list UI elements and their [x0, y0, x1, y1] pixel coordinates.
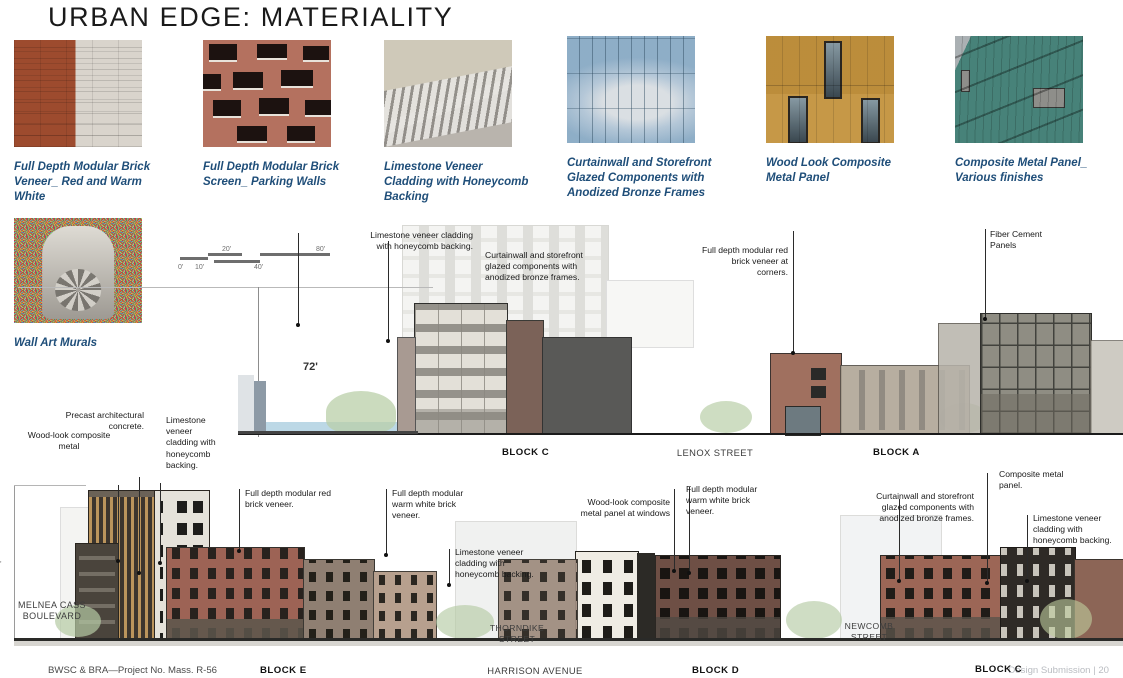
annotation-red-brick-corners: Full depth modular red brick veneer at c… — [700, 245, 788, 279]
leader-line — [139, 477, 140, 573]
dimension-label-72: 72' — [303, 361, 318, 373]
lower-elevation-drawing: ' — [0, 455, 1123, 678]
building-block-c — [414, 303, 508, 435]
dimension-label-cut: ' — [0, 560, 2, 569]
building-edge — [1090, 340, 1123, 435]
building-parking-podium — [542, 337, 632, 435]
tree — [1040, 599, 1092, 639]
block-label-d: BLOCK D — [692, 665, 739, 676]
street-label-thorndike: THORNDIKE STREET — [480, 623, 554, 644]
leader-line — [298, 233, 299, 325]
material-caption: Wood Look Composite Metal Panel — [766, 156, 916, 186]
annotation-limestone-veneer-3: Limestone veneer cladding with honeycomb… — [1033, 513, 1117, 547]
tree — [700, 401, 752, 433]
leader-line — [985, 229, 986, 319]
leader-line — [449, 549, 450, 585]
street-label-melnea-cass: MELNEA CASS BOULEVARD — [4, 600, 100, 623]
material-card-composite-metal-panel-various: Composite Metal Panel_ Various finishes — [955, 36, 1123, 186]
material-card-limestone-veneer-honeycomb: Limestone Veneer Cladding with Honeycomb… — [384, 40, 534, 206]
building-block-e-mid — [303, 559, 375, 640]
leader-line — [793, 231, 794, 353]
leader-line — [987, 473, 988, 583]
building-block-a-brick — [770, 353, 842, 435]
annotation-curtainwall: Curtainwall and storefront glazed compon… — [485, 250, 595, 284]
street-label-newcomb: NEWCOMB STREET — [833, 621, 905, 642]
annotation-wood-look-metal: Wood-look composite metal — [22, 430, 116, 452]
material-caption: Composite Metal Panel_ Various finishes — [955, 156, 1123, 186]
brick-screen-parking-walls-image — [203, 40, 331, 147]
limestone-veneer-honeycomb-image — [384, 40, 512, 147]
footer-submission-label: Design Submission | 20 — [1008, 665, 1109, 676]
building-tower — [938, 323, 982, 435]
building-block-c-wing — [506, 320, 544, 435]
block-label-e: BLOCK E — [260, 665, 307, 676]
leader-line — [1027, 515, 1028, 581]
annotation-limestone-veneer-2: Limestone veneer cladding with honeycomb… — [455, 547, 549, 581]
material-card-brick-veneer-red-warm-white: Full Depth Modular Brick Veneer_ Red and… — [14, 40, 164, 206]
leader-line — [388, 241, 389, 341]
footer-submission-text: Design Submission | 20 — [1008, 665, 1109, 676]
wood-look-composite-metal-panel-image — [766, 36, 894, 143]
tree — [326, 391, 396, 433]
leader-line — [118, 485, 119, 561]
annotation-precast-concrete: Precast architectural concrete. — [48, 410, 144, 432]
leader-line — [674, 489, 675, 571]
material-caption: Full Depth Modular Brick Screen_ Parking… — [203, 160, 353, 190]
material-caption: Full Depth Modular Brick Veneer_ Red and… — [14, 160, 164, 206]
curtainwall-storefront-glazed-image — [567, 36, 695, 143]
ground-line — [238, 431, 418, 434]
composite-metal-panel-various-image — [955, 36, 1083, 143]
annotation-warm-white-brick-1: Full depth modular warm white brick vene… — [392, 488, 470, 522]
annotation-wood-look-windows: Wood-look composite metal panel at windo… — [578, 497, 670, 519]
annotation-curtainwall-lower: Curtainwall and storefront glazed compon… — [862, 491, 974, 525]
leader-line — [386, 489, 387, 555]
building-block-d-joint — [637, 553, 655, 638]
block-label-c-lower: BLOCK C — [975, 664, 1022, 675]
annotation-fiber-cement: Fiber Cement Panels — [990, 229, 1066, 251]
street-label-harrison: HARRISON AVENUE — [450, 665, 620, 677]
page-title: URBAN EDGE: MATERIALITY — [48, 2, 453, 33]
material-caption: Limestone Veneer Cladding with Honeycomb… — [384, 160, 534, 206]
material-caption: Curtainwall and Storefront Glazed Compon… — [567, 156, 743, 202]
building-block-d-white — [575, 551, 639, 640]
brick-veneer-red-warm-white-image — [14, 40, 142, 147]
material-card-brick-screen-parking-walls: Full Depth Modular Brick Screen_ Parking… — [203, 40, 353, 190]
leader-line — [239, 489, 240, 551]
building-fiber-cement — [980, 313, 1092, 435]
leader-line — [160, 483, 161, 563]
building-block-e-end — [373, 571, 437, 640]
annotation-warm-white-brick-2: Full depth modular warm white brick vene… — [686, 484, 764, 518]
material-card-curtainwall-storefront-glazed: Curtainwall and Storefront Glazed Compon… — [567, 36, 743, 202]
footer-project-label: BWSC & BRA—Project No. Mass. R-56 — [48, 665, 217, 676]
annotation-limestone-veneer-1: Limestone veneer cladding with honeycomb… — [166, 415, 224, 471]
building-adjacent — [397, 337, 416, 435]
material-card-wood-look-composite-metal-panel: Wood Look Composite Metal Panel — [766, 36, 916, 186]
building-block-e-brick-bar — [166, 547, 305, 640]
annotation-limestone-veneer: Limestone veneer cladding with honeycomb… — [355, 230, 473, 252]
annotation-red-brick-veneer: Full depth modular red brick veneer. — [245, 488, 345, 510]
annotation-composite-metal-panel: Composite metal panel. — [999, 469, 1073, 491]
